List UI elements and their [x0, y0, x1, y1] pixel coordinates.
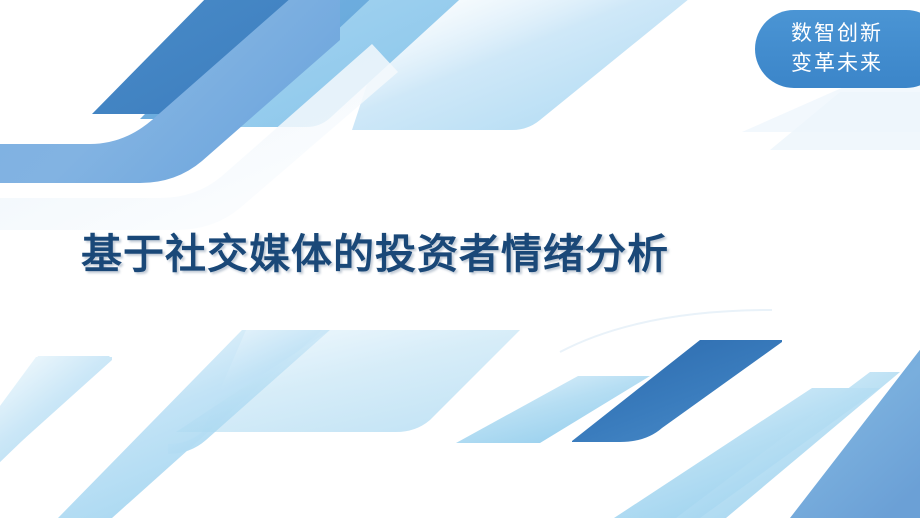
badge-line-2: 变革未来: [791, 49, 919, 79]
badge-line-1: 数智创新: [791, 19, 919, 49]
page-title: 基于社交媒体的投资者情绪分析: [0, 228, 750, 280]
corner-badge: 数智创新 变革未来: [755, 10, 920, 88]
slide-canvas: 数智创新 变革未来 基于社交媒体的投资者情绪分析: [0, 0, 920, 518]
